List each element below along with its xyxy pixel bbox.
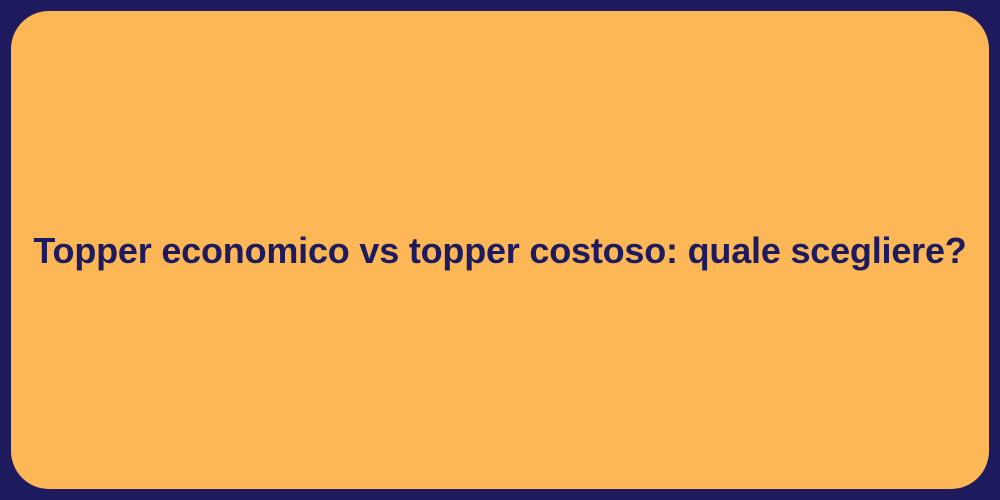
banner-frame: Topper economico vs topper costoso: qual… bbox=[0, 0, 1000, 500]
banner-headline: Topper economico vs topper costoso: qual… bbox=[33, 228, 966, 273]
banner-card: Topper economico vs topper costoso: qual… bbox=[11, 11, 989, 489]
